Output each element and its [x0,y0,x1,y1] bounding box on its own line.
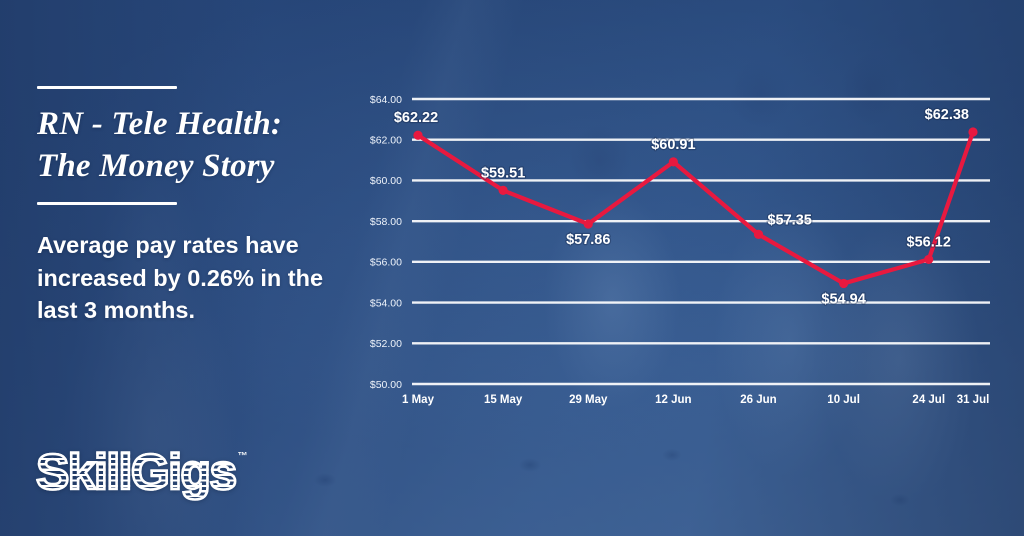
infographic-canvas: RN - Tele Health: The Money Story Averag… [0,0,1024,536]
data-point-value-label: $57.35 [767,212,811,228]
data-point-value-label: $62.38 [925,107,969,123]
y-axis-tick-label: $56.00 [370,257,402,269]
x-axis-tick-label: 24 Jul [912,394,945,406]
data-point-value-label: $54.94 [821,291,865,307]
data-point-marker[interactable] [669,157,678,166]
y-axis-tick-label: $54.00 [370,297,402,309]
data-point-value-label: $60.91 [651,137,695,153]
y-axis-tick-label: $50.00 [370,379,402,391]
headline: RN - Tele Health: The Money Story [37,103,337,187]
x-axis-tick-label: 10 Jul [827,394,860,406]
y-axis-tick-label: $58.00 [370,216,402,228]
data-point-marker[interactable] [839,279,848,288]
pay-rate-line-chart: $64.00$62.00$60.00$58.00$56.00$54.00$52.… [340,88,1000,408]
x-axis-tick-label: 15 May [484,394,523,406]
data-point-value-label: $59.51 [481,165,525,181]
skillgigs-logo: SkillGigs ™ [36,447,248,497]
headline-rule-bottom [37,202,177,205]
data-point-value-label: $56.12 [907,234,951,250]
x-axis-tick-label: 26 Jun [740,394,776,406]
data-point-value-label: $62.22 [394,110,438,126]
data-point-marker[interactable] [413,131,422,140]
y-axis-tick-label: $62.00 [370,135,402,147]
data-point-marker[interactable] [754,230,763,239]
data-point-marker[interactable] [584,219,593,228]
data-point-marker[interactable] [924,255,933,264]
x-axis-tick-label: 12 Jun [655,394,691,406]
data-point-marker[interactable] [968,127,977,136]
x-axis-tick-label: 29 May [569,394,608,406]
trademark-symbol: ™ [238,451,248,462]
x-axis-tick-label: 1 May [402,394,435,406]
y-axis-tick-label: $60.00 [370,175,402,187]
data-point-value-label: $57.86 [566,232,610,248]
data-point-marker[interactable] [499,186,508,195]
y-axis-tick-label: $52.00 [370,338,402,350]
headline-rule-top [37,86,177,89]
chart-svg: $64.00$62.00$60.00$58.00$56.00$54.00$52.… [340,88,1000,408]
left-text-panel: RN - Tele Health: The Money Story Averag… [37,86,337,327]
subheadline: Average pay rates have increased by 0.26… [37,229,332,326]
y-axis-tick-label: $64.00 [370,94,402,106]
logo-wordmark: SkillGigs [36,447,236,497]
x-axis-tick-label: 31 Jul [957,394,990,406]
